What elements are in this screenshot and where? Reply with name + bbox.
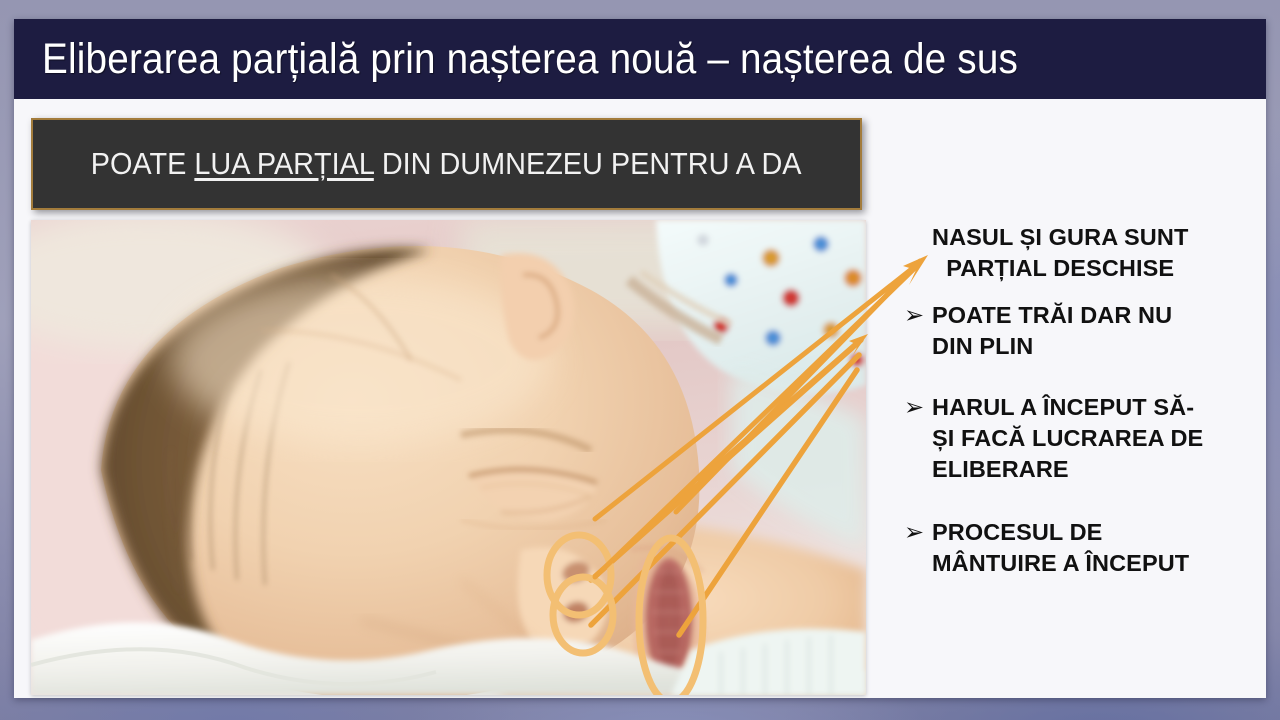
page-title: Eliberarea parțială prin nașterea nouă –… xyxy=(42,35,1018,84)
bullet-line: PROCESUL DE xyxy=(932,517,1189,548)
spacer xyxy=(898,366,1266,392)
list-item: ➢ HARUL A ÎNCEPUT SĂ- ȘI FACĂ LUCRAREA D… xyxy=(898,392,1266,485)
subtitle-part-after: DIN DUMNEZEU PENTRU A DA xyxy=(374,146,802,181)
baby-photo xyxy=(31,220,866,695)
spacer xyxy=(898,288,1266,300)
subtitle-part-underlined: LUA PARȚIAL xyxy=(195,146,374,181)
list-item: NASUL ȘI GURA SUNT PARȚIAL DESCHISE xyxy=(898,222,1266,284)
list-item: ➢ PROCESUL DE MÂNTUIRE A ÎNCEPUT xyxy=(898,517,1266,579)
bullet-line: ȘI FACĂ LUCRAREA DE xyxy=(932,423,1203,454)
bullet-line: DIN PLIN xyxy=(932,331,1172,362)
arrow-bullet-icon: ➢ xyxy=(898,392,932,423)
bullet-text-3: PROCESUL DE MÂNTUIRE A ÎNCEPUT xyxy=(932,517,1189,579)
bullet-text-0: NASUL ȘI GURA SUNT PARȚIAL DESCHISE xyxy=(932,222,1188,284)
baby-photo-illustration xyxy=(31,220,866,695)
bullet-line: HARUL A ÎNCEPUT SĂ- xyxy=(932,392,1203,423)
slide-title-bar: Eliberarea parțială prin nașterea nouă –… xyxy=(14,19,1266,99)
bullet-text-1: POATE TRĂI DAR NU DIN PLIN xyxy=(932,300,1172,362)
bullet-text-2: HARUL A ÎNCEPUT SĂ- ȘI FACĂ LUCRAREA DE … xyxy=(932,392,1203,485)
spacer xyxy=(898,489,1266,517)
bullet-list: NASUL ȘI GURA SUNT PARȚIAL DESCHISE ➢ PO… xyxy=(898,222,1266,692)
arrow-bullet-icon: ➢ xyxy=(898,300,932,331)
arrow-bullet-icon: ➢ xyxy=(898,517,932,548)
subtitle-callout-box: POATE LUA PARȚIAL DIN DUMNEZEU PENTRU A … xyxy=(31,118,862,210)
bullet-line: NASUL ȘI GURA SUNT xyxy=(932,222,1188,253)
slide-root: Eliberarea parțială prin nașterea nouă –… xyxy=(0,0,1280,720)
list-item: ➢ POATE TRĂI DAR NU DIN PLIN xyxy=(898,300,1266,362)
bullet-line: PARȚIAL DESCHISE xyxy=(932,253,1188,284)
subtitle-text: POATE LUA PARȚIAL DIN DUMNEZEU PENTRU A … xyxy=(91,146,802,182)
bullet-line: POATE TRĂI DAR NU xyxy=(932,300,1172,331)
bullet-line: ELIBERARE xyxy=(932,454,1203,485)
subtitle-part-before: POATE xyxy=(91,146,195,181)
bullet-line: MÂNTUIRE A ÎNCEPUT xyxy=(932,548,1189,579)
